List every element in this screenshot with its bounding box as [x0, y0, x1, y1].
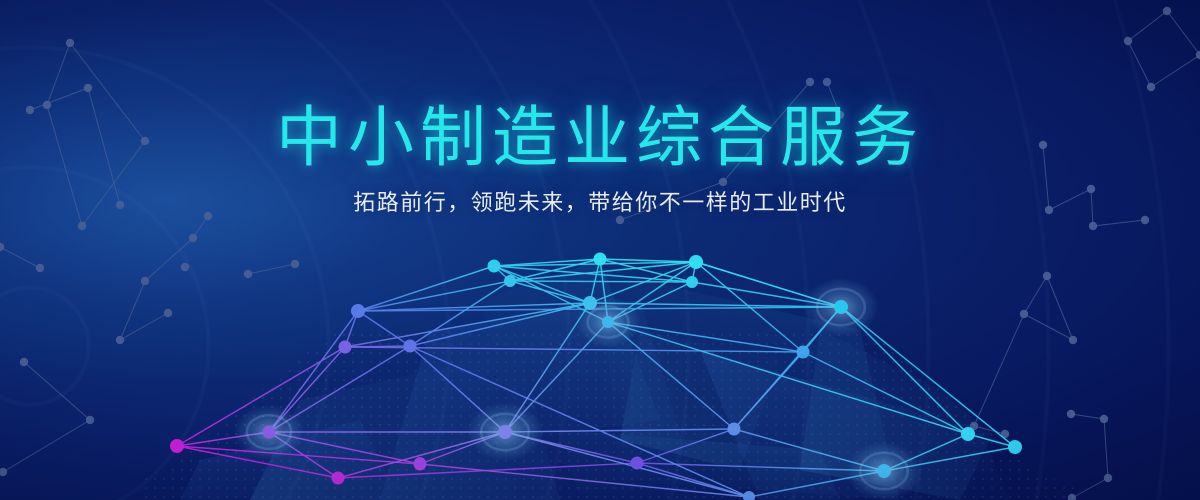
hero-banner: 中小制造业综合服务 拓路前行，领跑未来，带给你不一样的工业时代 [0, 0, 1200, 500]
page-subtitle: 拓路前行，领跑未来，带给你不一样的工业时代 [0, 188, 1200, 218]
wireframe-globe-graphic [0, 0, 1200, 500]
page-title: 中小制造业综合服务 [0, 98, 1200, 176]
hero-text-block: 中小制造业综合服务 拓路前行，领跑未来，带给你不一样的工业时代 [0, 98, 1200, 218]
